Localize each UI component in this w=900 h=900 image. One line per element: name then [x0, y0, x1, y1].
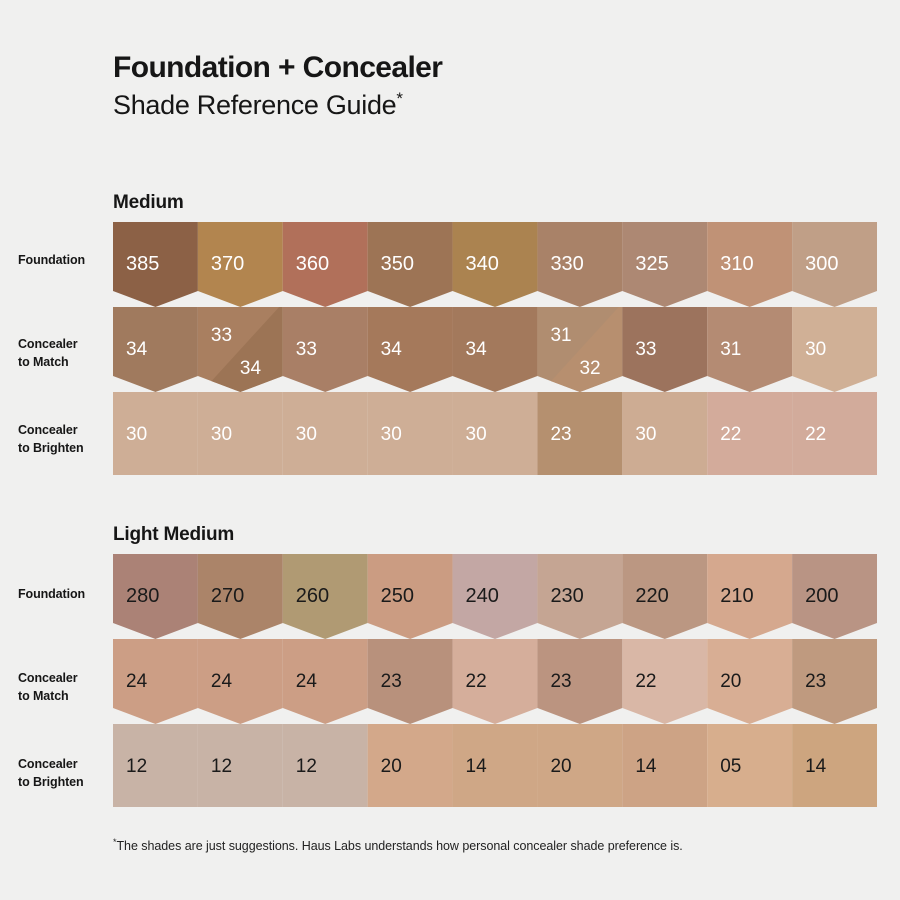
- row-label-brighten: Concealerto Brighten: [18, 756, 97, 792]
- shade-cell[interactable]: 340: [453, 222, 538, 307]
- shade-value: 14: [466, 756, 488, 777]
- shade-cell[interactable]: 30: [113, 392, 198, 475]
- title-line-2: Shade Reference Guide*: [113, 89, 813, 121]
- shade-cell[interactable]: 24: [283, 639, 368, 724]
- shade-value: 23: [550, 671, 571, 692]
- shade-cell[interactable]: 300: [792, 222, 877, 307]
- shade-cell[interactable]: 210: [707, 554, 792, 639]
- shade-cell[interactable]: 200: [792, 554, 877, 639]
- row-label-brighten: Concealerto Brighten: [18, 422, 97, 458]
- shade-value: 325: [635, 253, 668, 275]
- shade-cell[interactable]: 3334: [198, 303, 283, 396]
- shade-grid: 3030303030233022223433343334343132333130…: [113, 222, 877, 475]
- shade-value: 30: [466, 424, 487, 445]
- shade-cell[interactable]: 240: [453, 554, 538, 639]
- shade-cell[interactable]: 22: [707, 392, 792, 475]
- shade-cell[interactable]: 14: [453, 724, 538, 807]
- title-line-1: Foundation + Concealer: [113, 50, 813, 85]
- shade-value: 22: [805, 424, 826, 445]
- shade-value: 24: [126, 671, 148, 692]
- shade-value: 24: [296, 671, 318, 692]
- shade-value: 330: [550, 253, 583, 275]
- shade-value: 310: [720, 253, 753, 275]
- shade-value: 240: [466, 585, 499, 607]
- shade-value-alt: 32: [579, 358, 600, 379]
- shade-value: 20: [550, 756, 571, 777]
- shade-value: 30: [211, 424, 232, 445]
- shade-cell[interactable]: 270: [198, 554, 283, 639]
- shade-value: 270: [211, 585, 244, 607]
- shade-value: 05: [720, 756, 741, 777]
- shade-cell[interactable]: 360: [283, 222, 368, 307]
- shade-value: 385: [126, 253, 159, 275]
- title-line-2-text: Shade Reference Guide: [113, 90, 396, 120]
- shade-cell[interactable]: 34: [368, 307, 453, 392]
- shade-value: 23: [805, 671, 826, 692]
- shade-cell[interactable]: 260: [283, 554, 368, 639]
- shade-cell[interactable]: 22: [622, 639, 707, 724]
- shade-cell[interactable]: 30: [792, 307, 877, 392]
- shade-value: 24: [211, 671, 233, 692]
- shade-value: 33: [211, 325, 232, 346]
- shade-value: 250: [381, 585, 414, 607]
- shade-cell[interactable]: 33: [622, 307, 707, 392]
- shade-cell[interactable]: 3132: [537, 303, 622, 396]
- shade-value: 210: [720, 585, 753, 607]
- shade-grid-canvas: 3030303030233022223433343334343132333130…: [113, 222, 877, 475]
- row-label-foundation: Foundation: [18, 252, 97, 270]
- shade-cell[interactable]: 24: [198, 639, 283, 724]
- shade-value: 350: [381, 253, 414, 275]
- shade-cell[interactable]: 370: [198, 222, 283, 307]
- shade-value: 12: [211, 756, 232, 777]
- shade-value: 260: [296, 585, 329, 607]
- shade-value: 30: [126, 424, 147, 445]
- shade-value: 22: [635, 671, 656, 692]
- shade-value: 34: [381, 339, 403, 360]
- shade-cell[interactable]: 34: [453, 307, 538, 392]
- shade-cell[interactable]: 14: [792, 724, 877, 807]
- shade-cell[interactable]: 14: [622, 724, 707, 807]
- row-label-match: Concealerto Match: [18, 336, 97, 372]
- shade-value: 200: [805, 585, 838, 607]
- shade-cell[interactable]: 33: [283, 307, 368, 392]
- shade-value: 370: [211, 253, 244, 275]
- shade-cell[interactable]: 23: [537, 392, 622, 475]
- shade-value: 31: [550, 325, 571, 346]
- shade-value: 12: [296, 756, 317, 777]
- shade-grid: 1212122014201405142424242322232220232802…: [113, 554, 877, 807]
- shade-value: 220: [635, 585, 668, 607]
- shade-cell[interactable]: 230: [537, 554, 622, 639]
- shade-value: 300: [805, 253, 838, 275]
- shade-cell[interactable]: 325: [622, 222, 707, 307]
- footnote: *The shades are just suggestions. Haus L…: [113, 838, 853, 856]
- shade-cell[interactable]: 220: [622, 554, 707, 639]
- shade-value: 23: [381, 671, 402, 692]
- shade-cell[interactable]: 22: [792, 392, 877, 475]
- shade-value: 34: [126, 339, 148, 360]
- shade-cell[interactable]: 310: [707, 222, 792, 307]
- page-title: Foundation + Concealer Shade Reference G…: [113, 50, 813, 122]
- shade-reference-guide-page: Foundation + Concealer Shade Reference G…: [0, 0, 900, 900]
- shade-cell[interactable]: 280: [113, 554, 198, 639]
- shade-cell[interactable]: 05: [707, 724, 792, 807]
- shade-value: 12: [126, 756, 147, 777]
- shade-value: 14: [805, 756, 827, 777]
- shade-cell[interactable]: 22: [453, 639, 538, 724]
- shade-cell[interactable]: 30: [453, 392, 538, 475]
- shade-cell[interactable]: 23: [537, 639, 622, 724]
- row-label-foundation: Foundation: [18, 586, 97, 604]
- shade-cell[interactable]: 30: [368, 392, 453, 475]
- shade-value: 230: [550, 585, 583, 607]
- shade-cell[interactable]: 250: [368, 554, 453, 639]
- row-label-match: Concealerto Match: [18, 670, 97, 706]
- shade-value: 20: [381, 756, 402, 777]
- shade-value: 20: [720, 671, 741, 692]
- shade-value: 30: [296, 424, 317, 445]
- shade-value: 280: [126, 585, 159, 607]
- shade-value: 31: [720, 339, 741, 360]
- shade-value: 22: [720, 424, 741, 445]
- shade-value: 360: [296, 253, 329, 275]
- shade-cell[interactable]: 12: [113, 724, 198, 807]
- title-asterisk: *: [396, 89, 402, 108]
- shade-value: 23: [550, 424, 571, 445]
- shade-cell[interactable]: 34: [113, 307, 198, 392]
- shade-value: 30: [381, 424, 402, 445]
- shade-cell[interactable]: 23: [792, 639, 877, 724]
- shade-cell[interactable]: 30: [283, 392, 368, 475]
- shade-cell[interactable]: 20: [368, 724, 453, 807]
- shade-value: 30: [805, 339, 826, 360]
- shade-cell[interactable]: 12: [198, 724, 283, 807]
- section-heading: Light Medium: [113, 524, 234, 546]
- shade-value: 340: [466, 253, 499, 275]
- shade-cell[interactable]: 30: [198, 392, 283, 475]
- shade-cell[interactable]: 12: [283, 724, 368, 807]
- shade-grid-canvas: 1212122014201405142424242322232220232802…: [113, 554, 877, 807]
- shade-cell[interactable]: 24: [113, 639, 198, 724]
- section-heading: Medium: [113, 192, 184, 214]
- shade-value: 22: [466, 671, 487, 692]
- shade-cell[interactable]: 31: [707, 307, 792, 392]
- shade-cell[interactable]: 350: [368, 222, 453, 307]
- shade-value-alt: 34: [240, 358, 262, 379]
- shade-value: 33: [635, 339, 656, 360]
- shade-cell[interactable]: 330: [537, 222, 622, 307]
- shade-cell[interactable]: 385: [113, 222, 198, 307]
- shade-value: 33: [296, 339, 317, 360]
- shade-value: 34: [466, 339, 488, 360]
- shade-cell[interactable]: 23: [368, 639, 453, 724]
- shade-value: 14: [635, 756, 657, 777]
- footnote-text: The shades are just suggestions. Haus La…: [116, 839, 682, 853]
- shade-cell[interactable]: 20: [707, 639, 792, 724]
- shade-value: 30: [635, 424, 656, 445]
- shade-cell[interactable]: 30: [622, 392, 707, 475]
- shade-cell[interactable]: 20: [537, 724, 622, 807]
